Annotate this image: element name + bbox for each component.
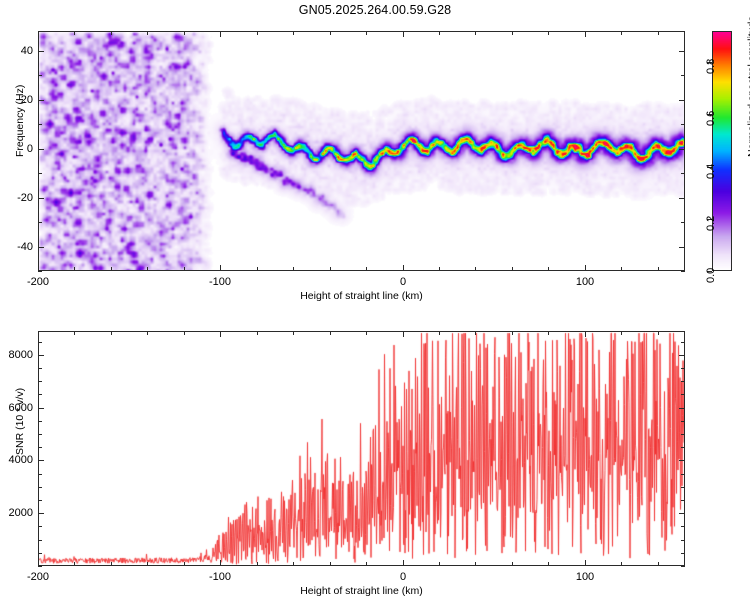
figure-root: GN05.2025.264.00.59.G28 -200-1000100 402…	[0, 0, 750, 600]
axis-ticklabel: 2000	[9, 507, 33, 519]
snr-y-axis-title: SNR (10 * v/v)	[14, 387, 26, 454]
axis-ticklabel: 8000	[9, 349, 33, 361]
snr-x-axis-title: Height of straight line (km)	[300, 585, 423, 597]
axis-ticklabel: 4000	[9, 454, 33, 466]
snr-y-ticklabels: 2000400060008000	[0, 0, 750, 600]
